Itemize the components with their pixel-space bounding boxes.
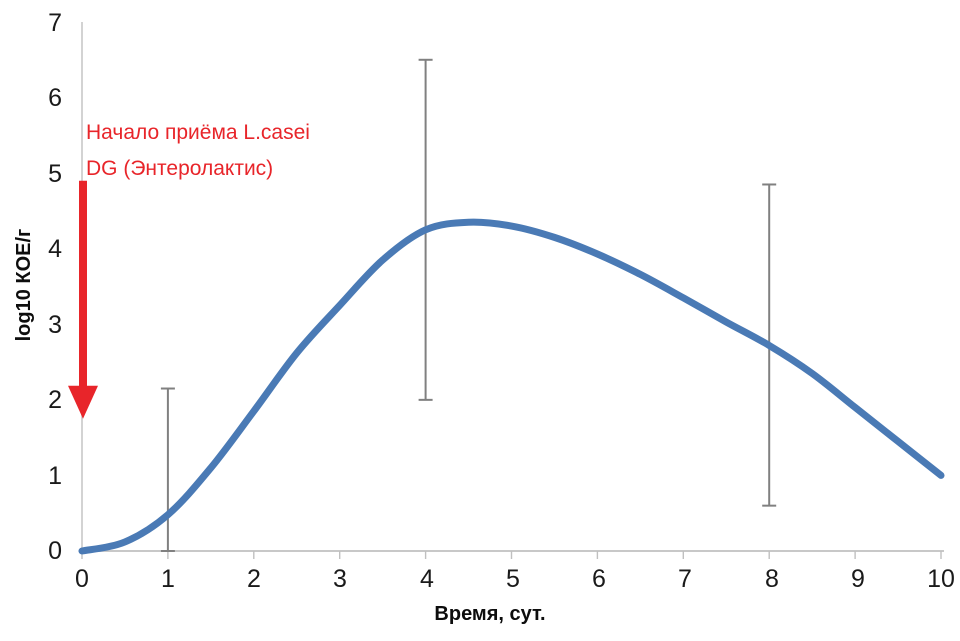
x-tick-label-5: 5 [506,565,520,593]
chart-background [0,0,960,641]
x-tick-label-6: 6 [592,565,606,593]
y-tick-label-7: 7 [48,9,62,37]
chart-plot: 7 6 5 4 3 2 1 0 0 1 2 3 4 5 6 7 8 9 10 l… [0,0,960,641]
y-tick-label-1: 1 [48,462,62,490]
y-tick-label-5: 5 [48,160,62,188]
annotation-line-2: DG (Энтеролактис) [86,157,273,180]
x-tick-label-0: 0 [75,565,89,593]
x-tick-label-1: 1 [161,565,175,593]
x-tick-label-9: 9 [851,565,865,593]
x-tick-label-4: 4 [420,565,434,593]
x-axis-title: Время, сут. [434,603,545,625]
y-tick-label-2: 2 [48,386,62,414]
y-tick-label-3: 3 [48,311,62,339]
x-tick-label-3: 3 [333,565,347,593]
chart-container: 7 6 5 4 3 2 1 0 0 1 2 3 4 5 6 7 8 9 10 l… [0,0,960,641]
x-tick-label-2: 2 [247,565,261,593]
x-tick-label-8: 8 [765,565,779,593]
x-tick-label-10: 10 [927,565,955,593]
y-tick-label-4: 4 [48,235,62,263]
x-tick-label-7: 7 [678,565,692,593]
y-axis-title: log10 КОЕ/г [13,229,35,342]
annotation-line-1: Начало приёма L.casei [86,121,310,144]
y-tick-label-0: 0 [48,537,62,565]
y-tick-label-6: 6 [48,84,62,112]
